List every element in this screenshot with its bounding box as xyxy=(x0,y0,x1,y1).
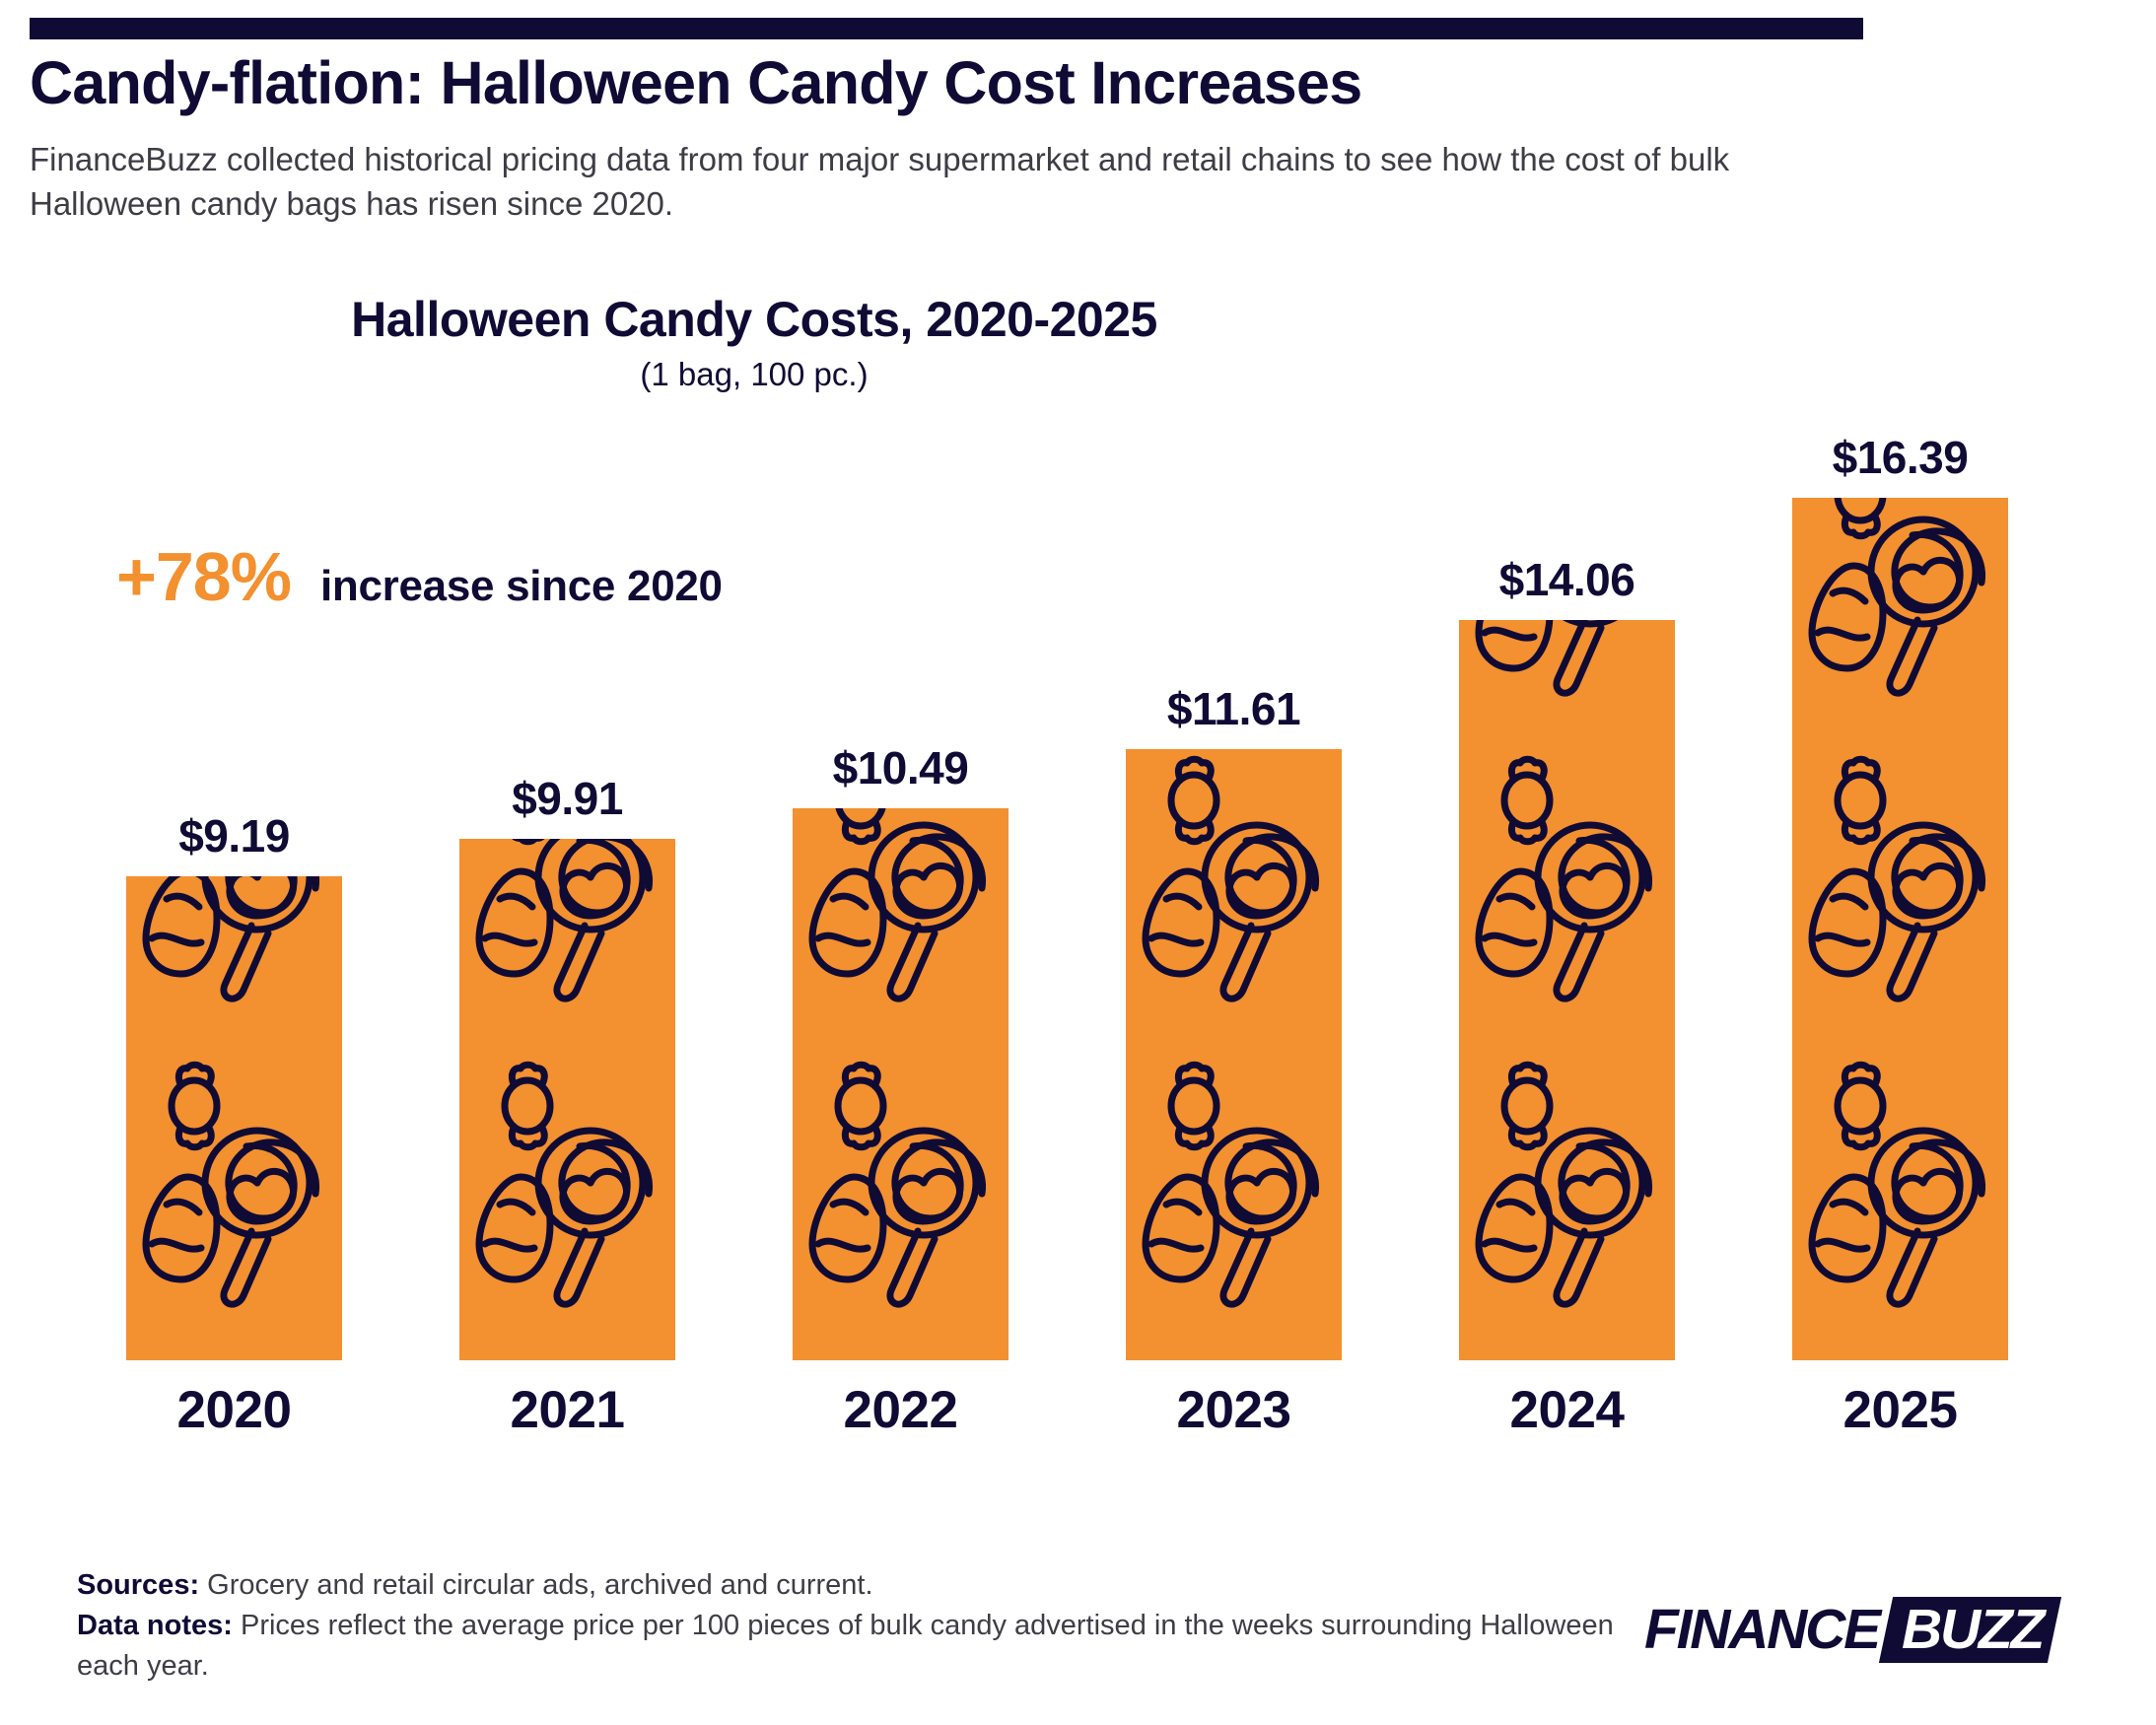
chart-title-block: Halloween Candy Costs, 2020-2025 (1 bag,… xyxy=(0,291,1508,393)
data-notes-text: Prices reflect the average price per 100… xyxy=(77,1610,1614,1682)
x-axis-label-2025: 2025 xyxy=(1792,1380,2008,1440)
chart-subtitle: (1 bag, 100 pc.) xyxy=(0,356,1508,393)
bar-2024 xyxy=(1459,620,1675,1360)
bar-2023 xyxy=(1126,749,1342,1360)
header: Candy-flation: Halloween Candy Cost Incr… xyxy=(30,49,2120,227)
candy-pattern-fill xyxy=(1792,498,2008,1360)
top-accent-rule xyxy=(30,18,1863,39)
x-axis-label-2021: 2021 xyxy=(459,1380,675,1440)
page-title: Candy-flation: Halloween Candy Cost Incr… xyxy=(30,49,2120,116)
candy-pattern-fill xyxy=(459,839,675,1360)
chart-title: Halloween Candy Costs, 2020-2025 xyxy=(0,291,1508,348)
logo-finance-word: FINANCE xyxy=(1644,1602,1879,1658)
candy-pattern-fill xyxy=(126,876,342,1360)
bar-value-label-2025: $16.39 xyxy=(1792,431,2008,484)
x-axis-label-2023: 2023 xyxy=(1126,1380,1342,1440)
bar-2022 xyxy=(793,808,1008,1360)
x-axis-label-2022: 2022 xyxy=(793,1380,1008,1440)
callout-percent: +78% xyxy=(116,537,291,616)
page-subtitle: FinanceBuzz collected historical pricing… xyxy=(30,138,1804,227)
bar-value-label-2024: $14.06 xyxy=(1459,553,1675,606)
callout-label: increase since 2020 xyxy=(320,562,723,611)
increase-callout: +78% increase since 2020 xyxy=(116,537,723,616)
sources-text: Grocery and retail circular ads, archive… xyxy=(199,1569,872,1601)
bar-2025 xyxy=(1792,498,2008,1360)
bar-2020 xyxy=(126,876,342,1360)
footnotes: Sources: Grocery and retail circular ads… xyxy=(77,1565,1615,1688)
x-axis-label-2020: 2020 xyxy=(126,1380,342,1440)
sources-label: Sources: xyxy=(77,1569,199,1601)
bar-value-label-2023: $11.61 xyxy=(1126,682,1342,735)
data-notes-label: Data notes: xyxy=(77,1610,233,1641)
candy-pattern-fill xyxy=(1126,749,1342,1360)
bar-chart: $9.192020 xyxy=(0,0,2156,1725)
data-notes-line: Data notes: Prices reflect the average p… xyxy=(77,1606,1615,1687)
logo-buzz-word: BUZZ xyxy=(1902,1602,2043,1658)
bar-value-label-2021: $9.91 xyxy=(459,772,675,825)
financebuzz-logo: FINANCE BUZZ xyxy=(1644,1595,2054,1664)
candy-pattern-fill xyxy=(793,808,1008,1360)
candy-pattern-fill xyxy=(1459,620,1675,1360)
logo-buzz-badge: BUZZ xyxy=(1879,1597,2061,1663)
sources-line: Sources: Grocery and retail circular ads… xyxy=(77,1565,1615,1606)
bar-2021 xyxy=(459,839,675,1360)
x-axis-label-2024: 2024 xyxy=(1459,1380,1675,1440)
bar-value-label-2022: $10.49 xyxy=(793,741,1008,794)
bar-value-label-2020: $9.19 xyxy=(126,809,342,862)
